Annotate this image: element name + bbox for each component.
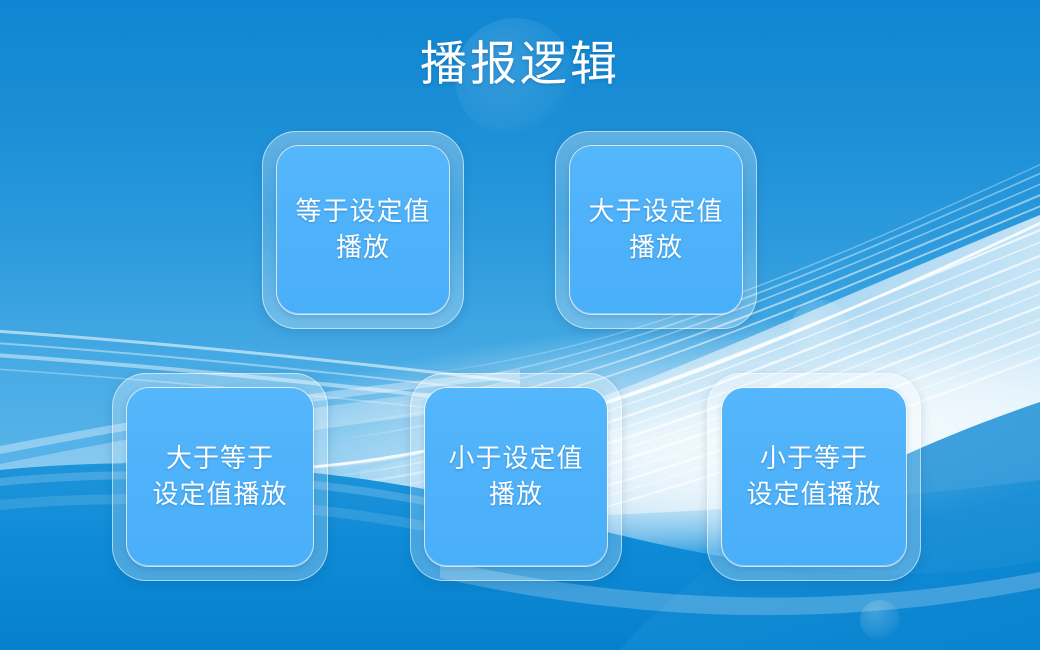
logic-box-greater-equal[interactable]: 大于等于 设定值播放 <box>112 373 328 581</box>
bubble-decoration-small <box>860 600 900 640</box>
logic-box-less-equal[interactable]: 小于等于 设定值播放 <box>707 373 921 581</box>
logic-box-less-surface: 小于设定值 播放 <box>425 388 607 566</box>
logic-box-less-equal-surface: 小于等于 设定值播放 <box>722 388 906 566</box>
logic-box-equal-surface: 等于设定值 播放 <box>277 146 449 314</box>
logic-box-greater-label: 大于设定值 播放 <box>582 194 729 266</box>
logic-box-equal-label: 等于设定值 播放 <box>289 194 436 266</box>
logic-box-greater[interactable]: 大于设定值 播放 <box>555 131 757 329</box>
bubble-decoration <box>790 300 850 360</box>
logic-box-less-equal-label: 小于等于 设定值播放 <box>740 441 887 513</box>
logic-box-less-label: 小于设定值 播放 <box>442 441 589 513</box>
logic-box-equal[interactable]: 等于设定值 播放 <box>262 131 464 329</box>
logic-box-greater-equal-surface: 大于等于 设定值播放 <box>127 388 313 566</box>
slide-title: 播报逻辑 <box>0 36 1040 94</box>
logic-box-less[interactable]: 小于设定值 播放 <box>410 373 622 581</box>
logic-box-greater-surface: 大于设定值 播放 <box>570 146 742 314</box>
logic-box-greater-equal-label: 大于等于 设定值播放 <box>146 441 293 513</box>
slide-canvas: 播报逻辑 等于设定值 播放 大于设定值 播放 大于等于 设定值播放 小于设定值 … <box>0 0 1040 650</box>
